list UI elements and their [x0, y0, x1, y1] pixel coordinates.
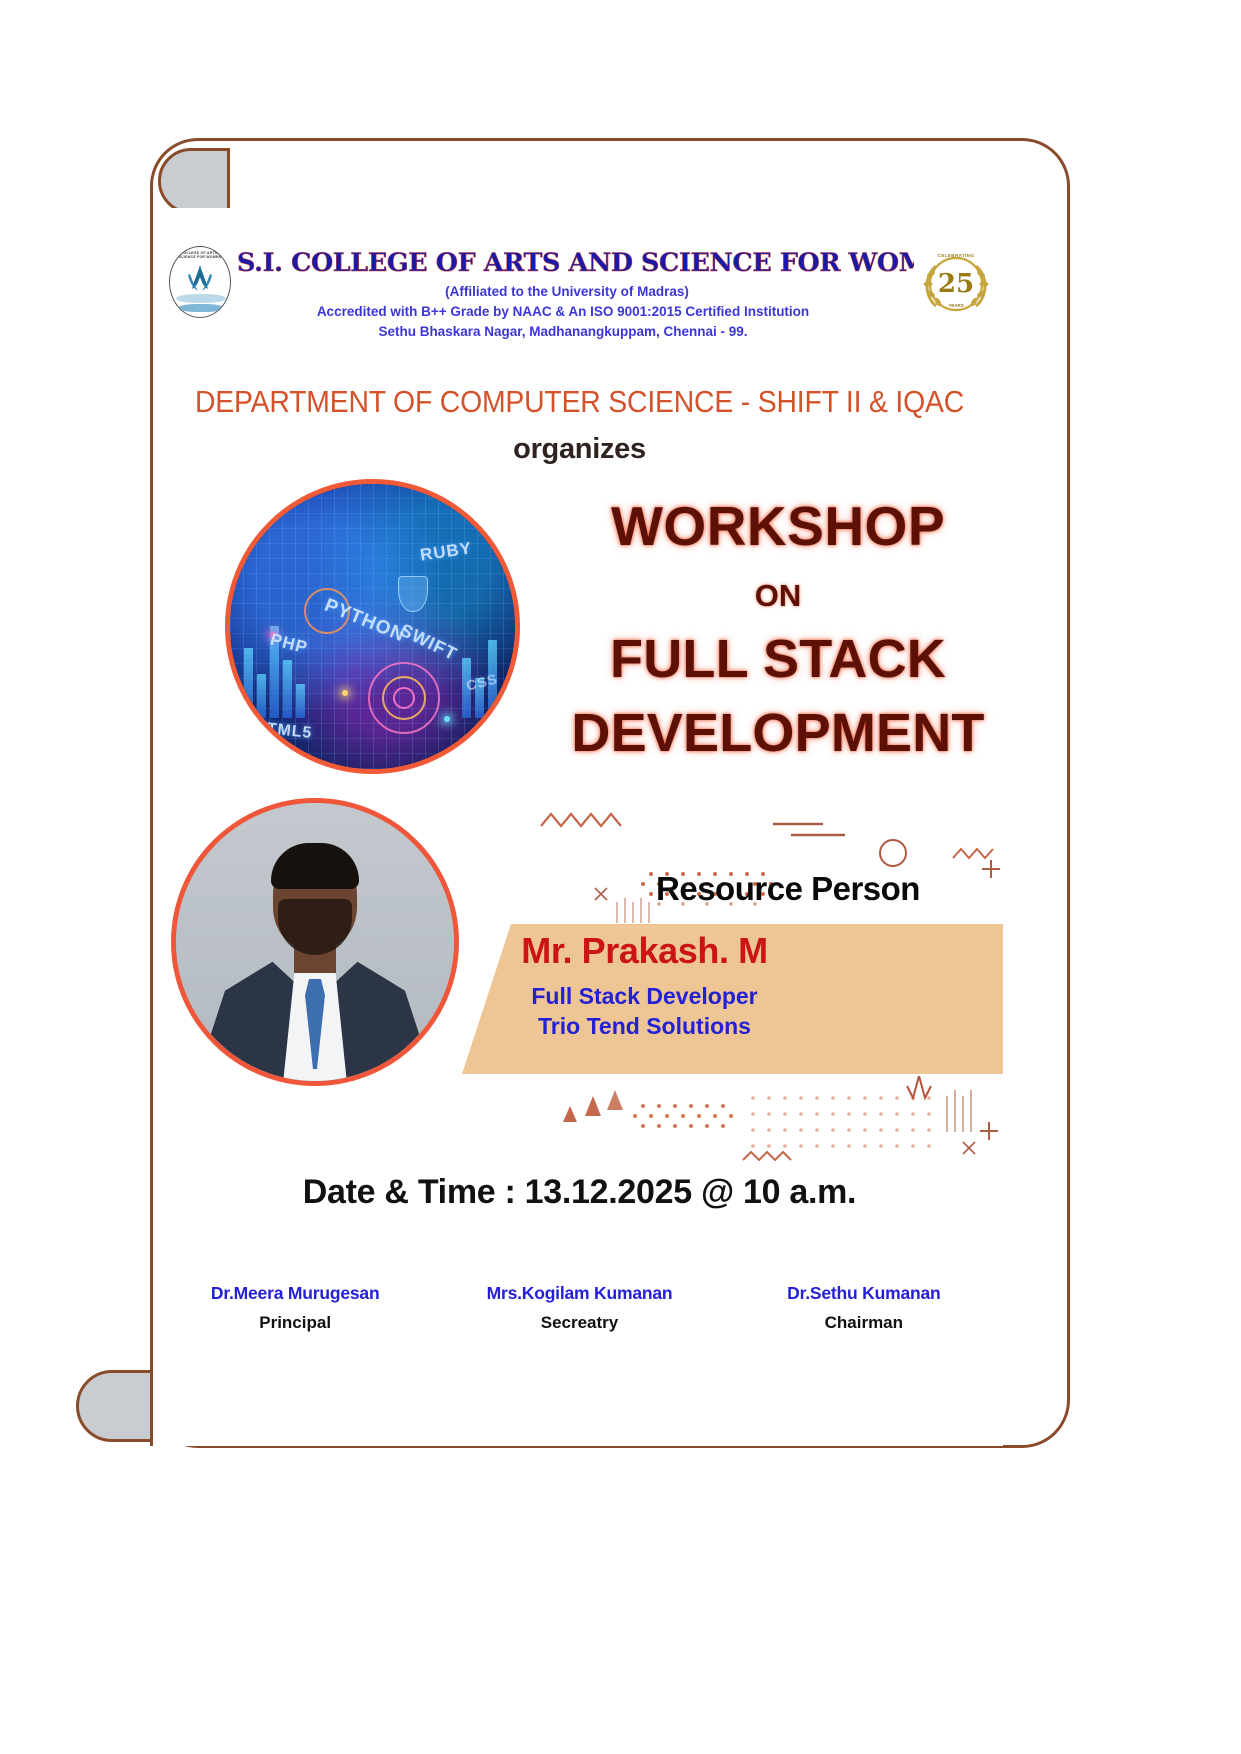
signatory-secretary: Mrs.Kogilam Kumanan Secreatry — [437, 1283, 721, 1333]
headline-on: ON — [553, 578, 1003, 614]
technology-illustration: RUBY PYTHON SWIFT PHP HTML5 CSS — [225, 479, 520, 774]
doodle-plus-lower — [980, 1122, 998, 1140]
doodle-dot-field-lower — [633, 1104, 733, 1128]
signatory-chairman: Dr.Sethu Kumanan Chairman — [722, 1283, 1003, 1333]
tech-glow-dot — [444, 716, 450, 722]
doodle-zigzag-lower — [743, 1152, 791, 1160]
organizes-label: organizes — [153, 433, 1003, 466]
signatory-name: Dr.Sethu Kumanan — [722, 1283, 1003, 1304]
tech-glow-dot — [342, 690, 348, 696]
signatory-name: Mrs.Kogilam Kumanan — [437, 1283, 721, 1304]
footer-signatories: Dr.Meera Murugesan Principal Mrs.Kogilam… — [153, 1283, 1003, 1333]
resource-person-role: Full Stack Developer — [153, 983, 1003, 1010]
doodle-circle — [880, 840, 906, 866]
doodle-spike — [907, 1076, 931, 1098]
college-accreditation: Accredited with B++ Grade by NAAC & An I… — [213, 304, 913, 319]
college-affiliation: (Affiliated to the University of Madras) — [237, 284, 897, 299]
college-name: S.I. COLLEGE OF ARTS AND SCIENCE FOR WOM… — [237, 248, 897, 278]
doodle-dot-grid-right — [751, 1096, 931, 1148]
event-datetime: Date & Time : 13.12.2025 @ 10 a.m. — [153, 1173, 1003, 1212]
tech-ring-small — [393, 687, 415, 709]
doodle-cluster-lower — [503, 1076, 1003, 1176]
poster-header: S.I. COLLEGE OF ARTS AND SCIENCE FOR WOM… — [153, 238, 1003, 363]
headline-topic-line2: DEVELOPMENT — [553, 704, 1003, 762]
doodle-x-mark-lower — [963, 1142, 975, 1154]
signatory-principal: Dr.Meera Murugesan Principal — [153, 1283, 437, 1333]
anniversary-badge-icon: CELEBRATING 25 YEARS — [914, 244, 998, 324]
signatory-name: Dr.Meera Murugesan — [153, 1283, 437, 1304]
poster-page: S.I. COLLEGE OF ARTS AND SCIENCE FOR WOM… — [0, 0, 1241, 1754]
headline-workshop: WORKSHOP — [553, 498, 1003, 556]
signatory-role: Secreatry — [437, 1313, 721, 1333]
seal-band-upper — [176, 294, 226, 303]
workshop-headline: WORKSHOP ON FULL STACK DEVELOPMENT — [553, 498, 1003, 762]
resource-person-title: Resource Person — [573, 870, 1003, 908]
signatory-role: Principal — [153, 1313, 437, 1333]
resource-person-name: Mr. Prakash. M — [153, 930, 1003, 972]
doodle-triangles — [563, 1090, 623, 1122]
doodle-vertical-lines-lower — [947, 1090, 971, 1132]
signatory-role: Chairman — [722, 1313, 1003, 1333]
badge-years: YEARS — [948, 303, 964, 308]
department-line: DEPARTMENT OF COMPUTER SCIENCE - SHIFT I… — [183, 385, 976, 420]
badge-caption: CELEBRATING — [938, 253, 975, 258]
doodle-zigzag-right — [953, 849, 993, 858]
headline-topic-line1: FULL STACK — [553, 630, 1003, 688]
badge-number: 25 — [938, 269, 974, 299]
seal-ring-text: S.I. COLLEGE OF ARTS AND SCIENCE FOR WOM… — [170, 251, 230, 259]
college-address: Sethu Bhaskara Nagar, Madhanangkuppam, C… — [213, 324, 913, 339]
poster-sheet: S.I. COLLEGE OF ARTS AND SCIENCE FOR WOM… — [150, 208, 1003, 1446]
frame-clip-top — [158, 148, 230, 214]
resource-person-organization: Trio Tend Solutions — [153, 1013, 1003, 1040]
doodle-zigzag-left — [541, 814, 621, 826]
